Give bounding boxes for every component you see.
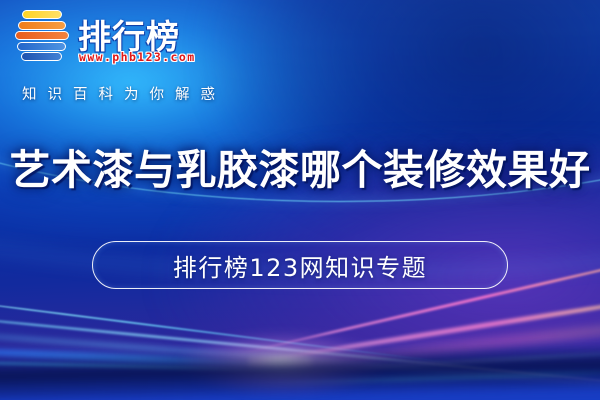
logo-bar-2 — [18, 21, 66, 30]
logo-bar-1 — [22, 10, 62, 19]
logo-brand-name: 排行榜 — [78, 20, 180, 53]
stacked-bars-logo-icon — [14, 8, 70, 66]
topic-pill-label: 排行榜123网知识专题 — [173, 248, 427, 283]
logo-website-url: www.phb123.com — [79, 50, 196, 64]
site-logo[interactable]: 排行榜 www.phb123.com — [14, 8, 180, 66]
logo-bar-3 — [15, 31, 69, 40]
site-tagline: 知识百科为你解惑 — [22, 83, 226, 104]
topic-pill-button[interactable]: 排行榜123网知识专题 — [92, 241, 508, 289]
promo-banner: 排行榜 www.phb123.com 知识百科为你解惑 艺术漆与乳胶漆哪个装修效… — [0, 0, 600, 400]
logo-text-group: 排行榜 www.phb123.com — [78, 20, 180, 55]
headline-title: 艺术漆与乳胶漆哪个装修效果好 — [0, 146, 600, 194]
logo-bar-5 — [21, 52, 62, 61]
banner-header: 排行榜 www.phb123.com 知识百科为你解惑 — [0, 0, 600, 115]
logo-bar-4 — [17, 42, 66, 51]
